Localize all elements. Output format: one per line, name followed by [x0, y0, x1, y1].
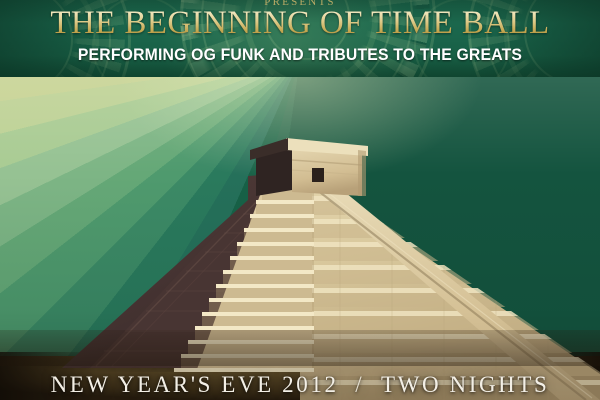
nights-text: TWO NIGHTS	[381, 372, 549, 397]
date-separator: /	[355, 372, 364, 397]
event-poster: PRESENTS THE BEGINNING OF TIME BALL PERF…	[0, 0, 600, 400]
sunburst-background	[0, 77, 600, 400]
event-dates: NEW YEAR'S EVE 2012 / TWO NIGHTS	[0, 371, 600, 398]
tagline: PERFORMING OG FUNK AND TRIBUTES TO THE G…	[14, 46, 587, 65]
page-title: THE BEGINNING OF TIME BALL	[0, 5, 600, 41]
poster-header: PRESENTS THE BEGINNING OF TIME BALL PERF…	[0, 0, 600, 77]
date-text: NEW YEAR'S EVE 2012	[51, 372, 339, 397]
sunburst-rays	[0, 77, 600, 400]
